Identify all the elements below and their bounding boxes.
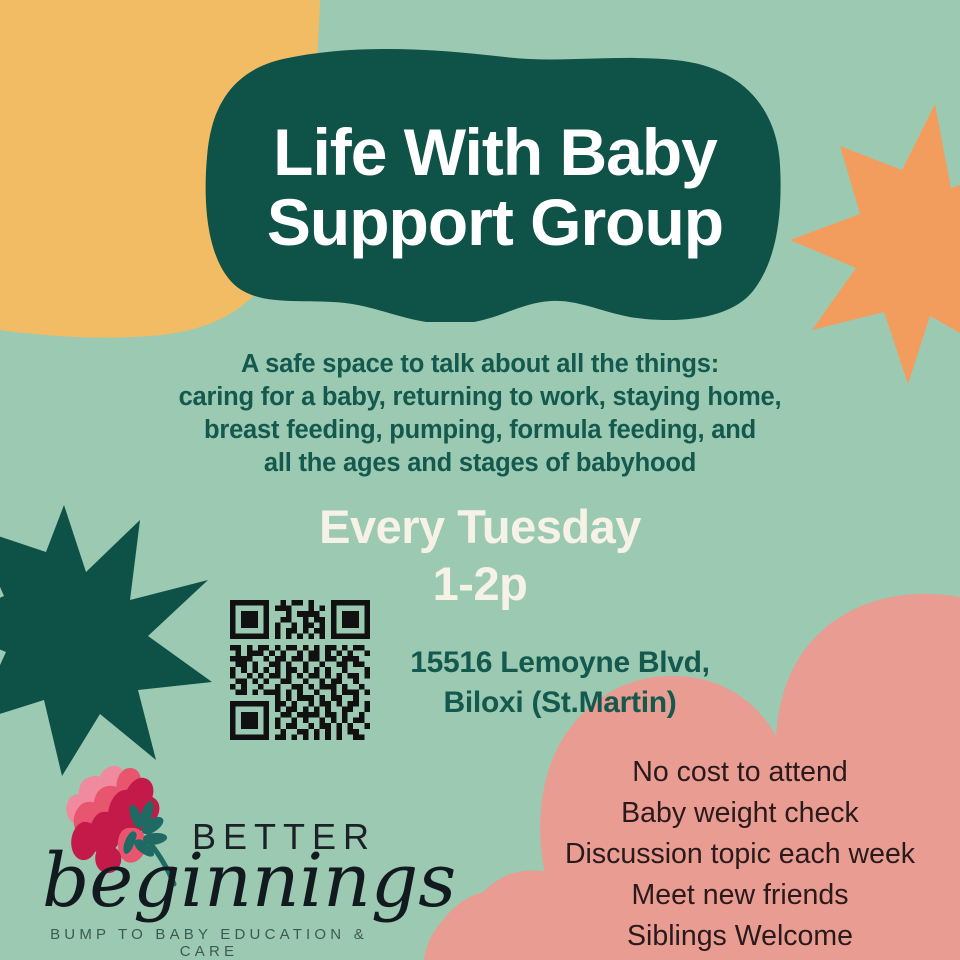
description-line-3: breast feeding, pumping, formula feeding… <box>0 414 960 447</box>
benefit-item: No cost to attend <box>520 752 960 793</box>
orange-star-shape <box>790 104 960 384</box>
title-line-1: Life With Baby <box>273 118 717 188</box>
logo-tagline: BUMP TO BABY EDUCATION & CARE <box>34 926 384 960</box>
benefit-item: Baby weight check <box>520 793 960 834</box>
schedule-time: 1-2p <box>0 555 960 612</box>
brand-logo: BETTER beginnings BUMP TO BABY EDUCATION… <box>24 762 384 958</box>
logo-script-mark: beginnings <box>42 840 392 922</box>
benefits-list: No cost to attend Baby weight check Disc… <box>520 752 960 957</box>
description-line-2: caring for a baby, returning to work, st… <box>0 381 960 414</box>
schedule-day: Every Tuesday <box>0 498 960 555</box>
poster-canvas: Life With Baby Support Group A safe spac… <box>0 0 960 960</box>
benefit-item: Meet new friends <box>520 875 960 916</box>
title-line-2: Support Group <box>267 188 723 258</box>
description-line-4: all the ages and stages of babyhood <box>0 447 960 480</box>
address-block: 15516 Lemoyne Blvd, Biloxi (St.Martin) <box>340 643 780 723</box>
address-line-2: Biloxi (St.Martin) <box>340 683 780 723</box>
title-banner: Life With Baby Support Group <box>205 47 785 322</box>
description-line-1: A safe space to talk about all the thing… <box>0 348 960 381</box>
benefit-item: Discussion topic each week <box>520 834 960 875</box>
address-line-1: 15516 Lemoyne Blvd, <box>340 643 780 683</box>
benefit-item: Siblings Welcome <box>520 916 960 957</box>
schedule-block: Every Tuesday 1-2p <box>0 498 960 612</box>
description-block: A safe space to talk about all the thing… <box>0 348 960 480</box>
